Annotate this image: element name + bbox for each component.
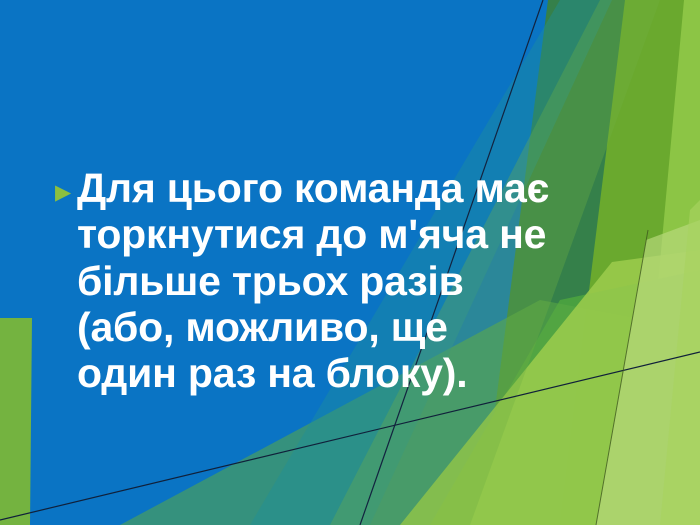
left-green-wedge-fill [0,318,32,525]
bullet-text: Для цього команда має торкнутися до м'яч… [77,165,555,397]
slide-canvas: ▶ Для цього команда має торкнутися до м'… [0,0,700,525]
triangle-bullet-icon: ▶ [55,182,77,203]
list-item[interactable]: ▶ Для цього команда має торкнутися до м'… [55,165,555,397]
slide-body-placeholder[interactable]: ▶ Для цього команда має торкнутися до м'… [55,165,555,397]
